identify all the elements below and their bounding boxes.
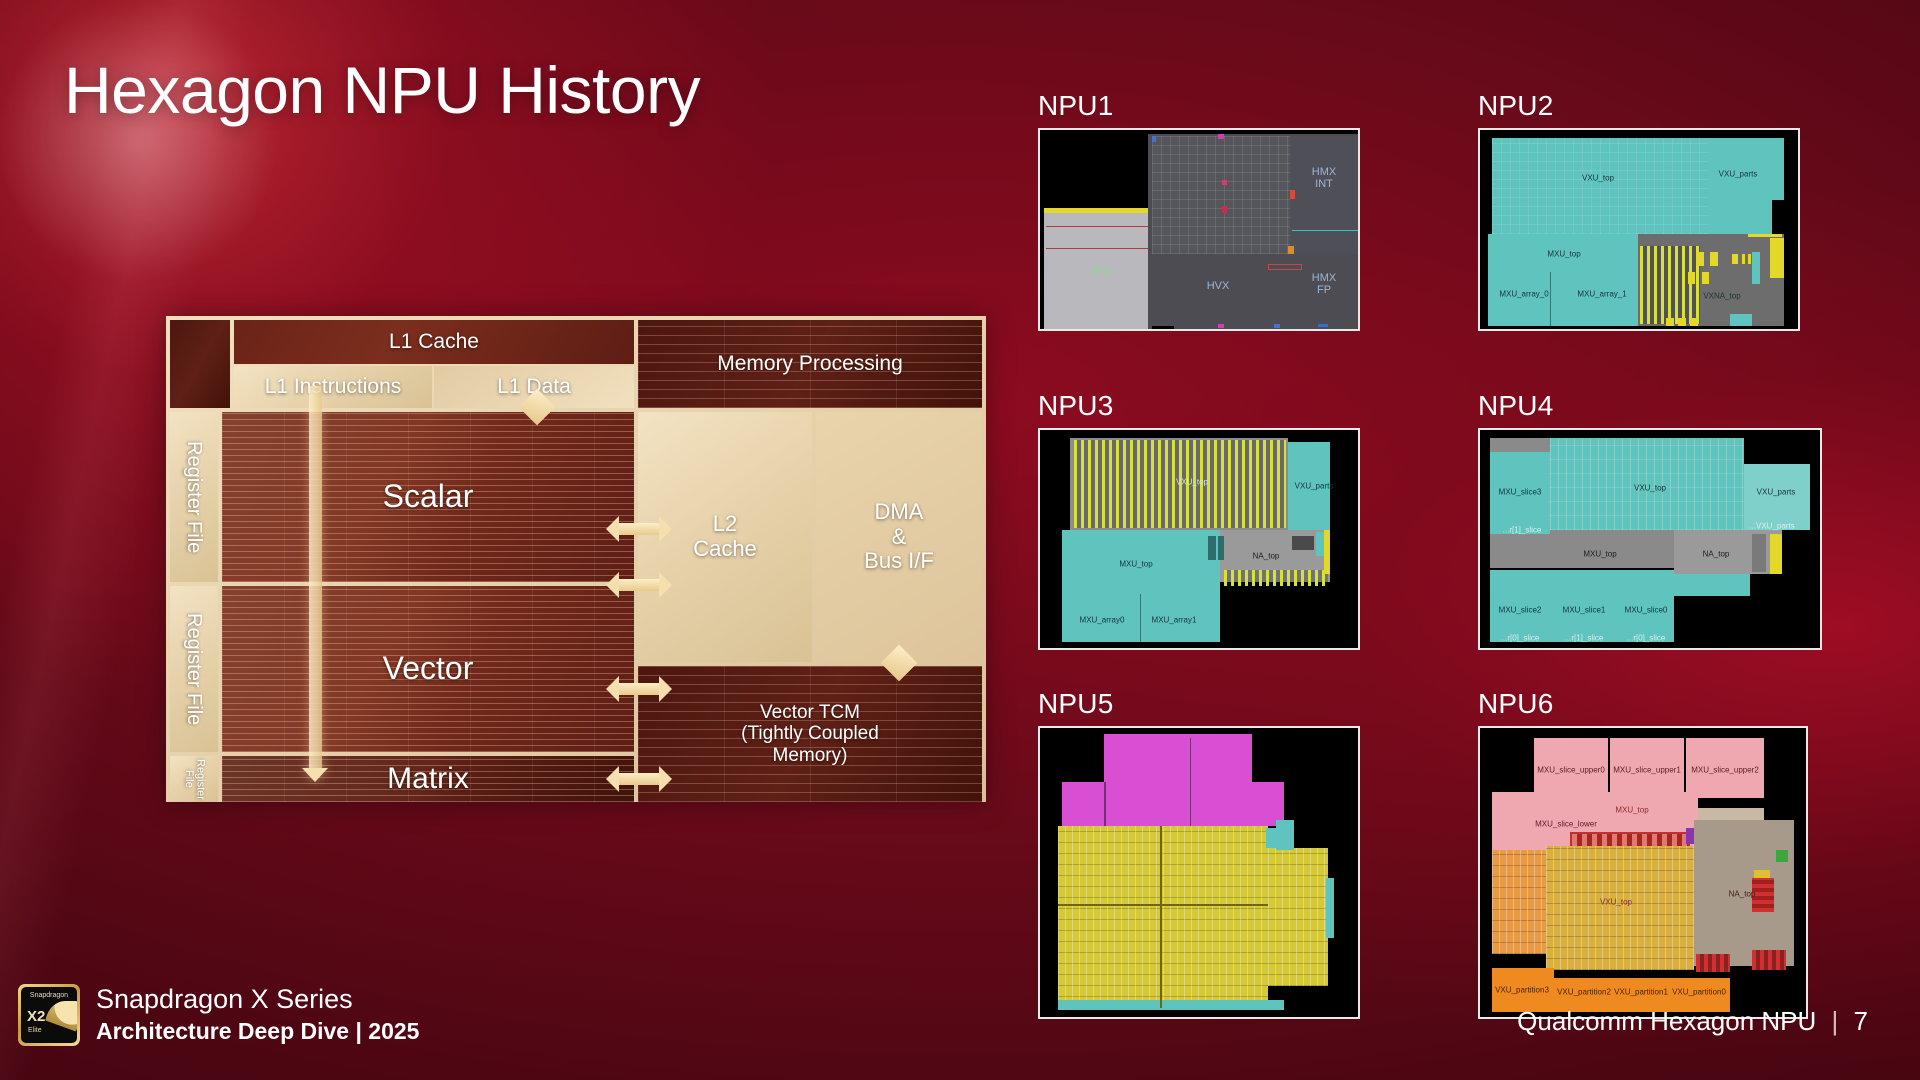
block-l1-cache-label: L1 Cache <box>389 330 479 354</box>
npu4-die-label-mxu-slice1: MXU_slice1 <box>1563 606 1606 615</box>
arch-corner-stub <box>170 320 230 408</box>
npu6-die-label-na-top: NA_top <box>1729 890 1756 899</box>
block-vector-label: Vector <box>383 651 474 687</box>
npu-panel-npu4[interactable]: NPU4 MXU_slice3 VXU_top VXU_parts ...r[1… <box>1478 390 1822 650</box>
npu6-label: NPU6 <box>1478 688 1808 720</box>
npu2-die-label-vxna-top: VXNA_top <box>1703 292 1740 301</box>
npu6-die-shot[interactable]: MXU_slice_upper0 MXU_slice_upper1 MXU_sl… <box>1478 726 1808 1019</box>
npu4-die-label-vxu-parts: VXU_parts <box>1757 488 1796 497</box>
npu5-label: NPU5 <box>1038 688 1360 720</box>
npu6-die-label-vxu-part2: VXU_partition2 <box>1557 988 1611 997</box>
logo-tier: Elite <box>28 1027 42 1034</box>
npu4-die-label-mxu-top: MXU_top <box>1583 550 1616 559</box>
snapdragon-logo: Snapdragon X2 Elite <box>18 984 80 1046</box>
npu1-die-label-hvx: HVX <box>1207 280 1230 292</box>
npu6-die-label-slice-upper1: MXU_slice_upper1 <box>1613 766 1681 775</box>
block-l1-instructions-label: L1 Instructions <box>265 375 402 399</box>
npu2-die-shot[interactable]: VXU_top VXU_parts MXU_top MXU_array_0 MX… <box>1478 128 1800 331</box>
block-register-file-vector: Register File <box>170 586 218 752</box>
npu6-die-label-vxu-part3: VXU_partition3 <box>1495 986 1549 995</box>
arrow-vector-l2 <box>606 572 672 598</box>
block-vector-tcm-line1: Vector TCM <box>760 702 860 723</box>
npu3-die-label-vxu-top: VXU_top <box>1176 478 1208 487</box>
block-vector-tcm-line2: (Tightly Coupled <box>741 723 879 744</box>
footer-line-2: Architecture Deep Dive | 2025 <box>96 1018 419 1045</box>
npu4-die-label-r1-slice-top: ...r[1]_slice <box>1503 526 1542 535</box>
block-register-file-matrix: Register File <box>170 756 218 802</box>
npu6-die-label-vxu-top: VXU_top <box>1600 898 1632 907</box>
footer-right-title: Qualcomm Hexagon NPU <box>1517 1006 1816 1036</box>
npu-panel-npu5[interactable]: NPU5 <box>1038 688 1360 1019</box>
block-dma-label-line1: DMA <box>875 500 924 525</box>
npu3-die-label-mxu-array0: MXU_array0 <box>1080 616 1125 625</box>
register-file-3-label: Register File <box>182 756 205 802</box>
npu1-label: NPU1 <box>1038 90 1360 122</box>
npu4-die-label-mxu-slice0: MXU_slice0 <box>1625 606 1668 615</box>
block-register-file-scalar: Register File <box>170 412 218 582</box>
footer-line-1: Snapdragon X Series <box>96 984 353 1015</box>
npu3-die-label-na-top: NA_top <box>1253 552 1280 561</box>
npu4-die-label-mxu-slice3: MXU_slice3 <box>1499 488 1542 497</box>
npu4-die-shot[interactable]: MXU_slice3 VXU_top VXU_parts ...r[1]_sli… <box>1478 428 1822 650</box>
npu2-die-label-mxu-array0: MXU_array_0 <box>1499 290 1548 299</box>
footer-separator: | <box>1832 1006 1839 1036</box>
npu2-die-label-mxu-array1: MXU_array_1 <box>1577 290 1626 299</box>
block-dma-label-line2: & <box>892 525 907 550</box>
npu6-die-label-slice-upper0: MXU_slice_upper0 <box>1537 766 1605 775</box>
page-number: 7 <box>1854 1006 1868 1036</box>
npu1-die-label-hmx-int: HMX <box>1312 166 1336 178</box>
npu3-die-shot[interactable]: VXU_top VXU_parts MXU_top MXU_array0 MXU… <box>1038 428 1360 650</box>
npu3-die-label-mxu-top: MXU_top <box>1119 560 1152 569</box>
arrow-matrix-tcm <box>606 766 672 792</box>
npu2-die-label-mxu-top: MXU_top <box>1547 250 1580 259</box>
logo-model: X2 <box>27 1009 45 1024</box>
block-dma-bus-interface: DMA & Bus I/F <box>816 412 982 662</box>
npu3-die-label-mxu-array1: MXU_array1 <box>1152 616 1197 625</box>
npu4-die-label-vxu-parts2: ...VXU_parts <box>1749 522 1794 531</box>
npu-panel-npu6[interactable]: NPU6 MXU_slice_upper0 MXU_slice_upper1 M… <box>1478 688 1808 1019</box>
npu-panel-npu1[interactable]: NPU1 739 232 HMX INT HMX FP HVX <box>1038 90 1360 331</box>
npu6-die-label-slice-upper2: MXU_slice_upper2 <box>1691 766 1759 775</box>
npu2-label: NPU2 <box>1478 90 1800 122</box>
block-matrix: Matrix <box>222 756 634 802</box>
npu3-die-label-vxu-parts: VXU_parts <box>1295 482 1334 491</box>
arrow-vector-tcm <box>606 676 672 702</box>
npu4-die-label-mxu-slice2: MXU_slice2 <box>1499 606 1542 615</box>
npu4-die-label-r1-slice-b: ...r[1]_slice <box>1565 634 1604 643</box>
npu6-die-label-mxu-top: MXU_top <box>1615 806 1648 815</box>
block-vector-tcm-line3: Memory) <box>773 745 848 766</box>
block-l2-cache-label-line2: Cache <box>693 537 757 562</box>
block-scalar-label: Scalar <box>383 479 474 515</box>
npu4-die-label-vxu-top: VXU_top <box>1634 484 1666 493</box>
block-l2-cache-label-line1: L2 <box>713 512 737 537</box>
npu4-die-label-r0-slice-a: ...r[0]_slice <box>1501 634 1540 643</box>
npu-panel-npu3[interactable]: NPU3 VXU_top VXU_parts MXU_top MXU_array… <box>1038 390 1360 650</box>
npu4-label: NPU4 <box>1478 390 1822 422</box>
hexagon-architecture-diagram: L1 Cache L1 Instructions L1 Data Memory … <box>166 316 986 802</box>
block-memory-processing: Memory Processing <box>638 320 982 408</box>
block-scalar: Scalar <box>222 412 634 582</box>
npu1-die-label-0: 739 232 <box>1089 269 1114 276</box>
register-file-2-label: Register File <box>183 613 205 725</box>
npu2-die-label-vxu-top: VXU_top <box>1582 174 1614 183</box>
npu1-die-label-hmx-fp: HMX <box>1312 272 1336 284</box>
npu5-die-shot[interactable] <box>1038 726 1360 1019</box>
npu6-die-label-slice-lower: MXU_slice_lower <box>1535 820 1597 829</box>
npu6-die-label-vxu-part1: VXU_partition1 <box>1614 988 1668 997</box>
block-dma-label-line3: Bus I/F <box>864 549 934 574</box>
npu6-die-label-vxu-part0: VXU_partition0 <box>1672 988 1726 997</box>
footer-right: Qualcomm Hexagon NPU | 7 <box>1517 1006 1868 1037</box>
register-file-1-label: Register File <box>183 441 205 553</box>
npu3-label: NPU3 <box>1038 390 1360 422</box>
block-vector-tcm: Vector TCM (Tightly Coupled Memory) <box>638 666 982 802</box>
block-memory-processing-label: Memory Processing <box>717 352 903 376</box>
npu-panel-npu2[interactable]: NPU2 VXU_top VXU_parts MXU_top MXU_array… <box>1478 90 1800 331</box>
block-l1-cache: L1 Cache <box>234 320 634 364</box>
npu2-die-label-vxu-parts: VXU_parts <box>1719 170 1758 179</box>
arrow-scalar-l2 <box>606 516 672 542</box>
npu1-die-label-hmx-int2: INT <box>1315 178 1333 190</box>
arrow-instruction-fetch-down <box>302 386 328 782</box>
block-vector: Vector <box>222 586 634 752</box>
snapdragon-swoosh-icon <box>45 1001 77 1041</box>
npu4-die-label-r0-slice-c: ...r[0]_slice <box>1627 634 1666 643</box>
block-l1-instructions: L1 Instructions <box>234 366 432 408</box>
block-matrix-label: Matrix <box>387 762 469 796</box>
npu4-die-label-na-top: NA_top <box>1703 550 1730 559</box>
npu1-die-label-hmx-fp2: FP <box>1317 284 1331 296</box>
page-title: Hexagon NPU History <box>64 52 700 128</box>
npu1-die-shot[interactable]: 739 232 HMX INT HMX FP HVX <box>1038 128 1360 331</box>
logo-brand: Snapdragon <box>21 992 77 999</box>
